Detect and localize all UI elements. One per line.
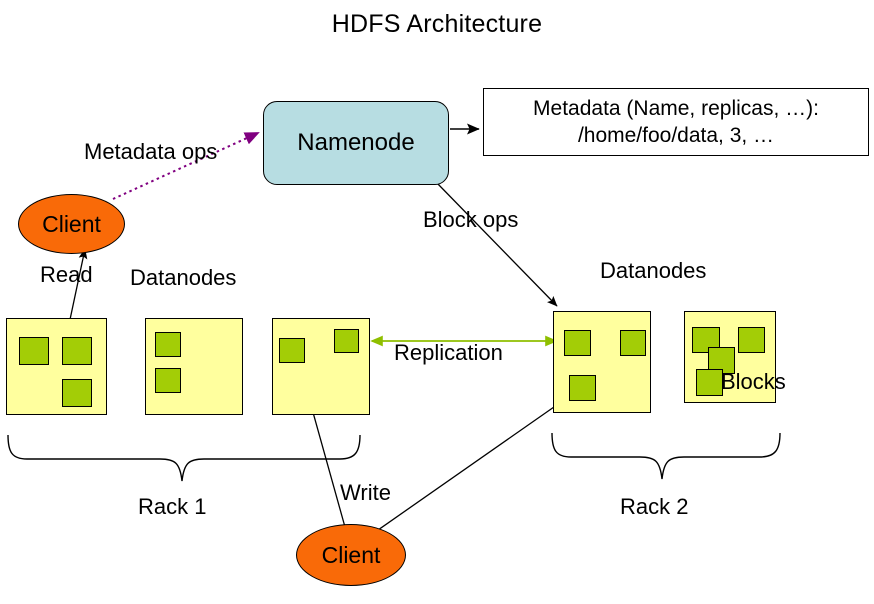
read-label: Read	[40, 262, 93, 288]
block[interactable]	[620, 330, 646, 356]
block[interactable]	[279, 338, 305, 363]
datanodes-left-label: Datanodes	[130, 265, 236, 291]
block[interactable]	[155, 332, 181, 357]
block-ops-label: Block ops	[423, 207, 518, 233]
blocks-label: Blocks	[721, 369, 786, 395]
block[interactable]	[696, 369, 723, 396]
block[interactable]	[738, 327, 765, 353]
datanodes-right-label: Datanodes	[600, 258, 706, 284]
datanode-layer	[0, 0, 874, 604]
block[interactable]	[62, 337, 92, 365]
block[interactable]	[334, 329, 359, 353]
write-label: Write	[340, 480, 391, 506]
replication-label: Replication	[394, 340, 503, 366]
rack-1-label: Rack 1	[138, 494, 206, 520]
metadata-ops-label: Metadata ops	[84, 139, 217, 165]
block[interactable]	[155, 368, 181, 393]
block[interactable]	[62, 379, 92, 407]
block[interactable]	[569, 375, 596, 401]
rack-2-label: Rack 2	[620, 494, 688, 520]
datanode-dn4[interactable]	[553, 311, 651, 413]
block[interactable]	[19, 337, 49, 365]
block[interactable]	[564, 330, 591, 356]
hdfs-architecture-diagram: HDFS Architecture	[0, 0, 874, 604]
